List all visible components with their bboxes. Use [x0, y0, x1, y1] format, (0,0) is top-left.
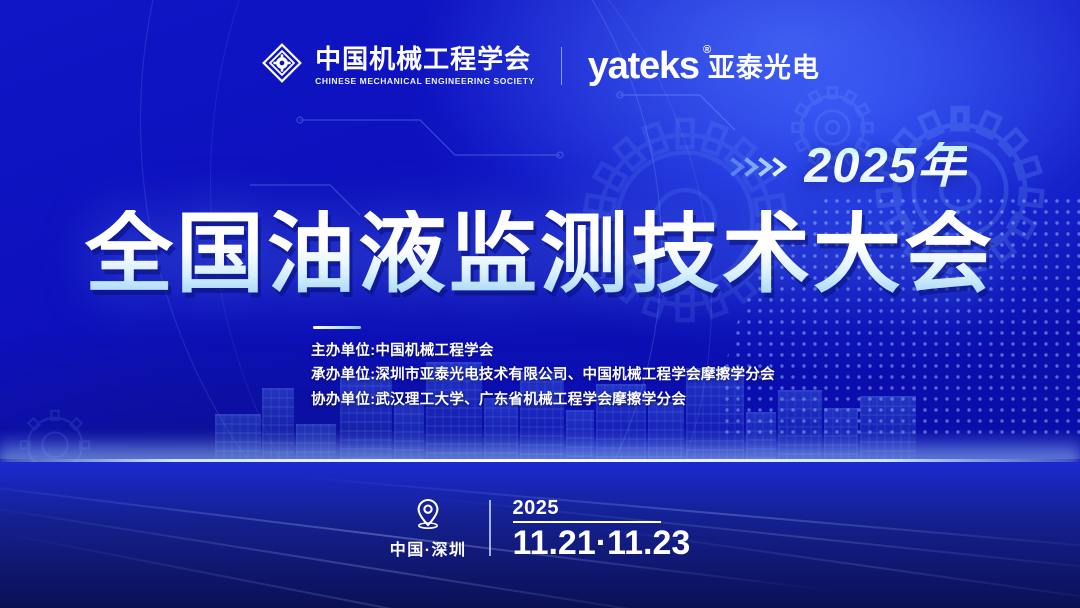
chevron-arrows-icon [730, 153, 792, 181]
yateks-logo: yateks ® 亚泰光电 [588, 47, 820, 85]
cmes-logo: 中国机械工程学会 CHINESE MECHANICAL ENGINEERING … [260, 41, 535, 90]
yateks-name-cn: 亚泰光电 [708, 53, 820, 85]
cmes-logo-text: 中国机械工程学会 CHINESE MECHANICAL ENGINEERING … [315, 46, 535, 86]
location-block: 中国·深圳 [390, 496, 467, 560]
organizer-host: 主办单位:中国机械工程学会 [311, 343, 775, 360]
cmes-name-cn: 中国机械工程学会 [315, 46, 535, 72]
date-underline [513, 521, 661, 523]
title-divider-rule [313, 326, 361, 329]
yateks-wordmark-text: yateks [588, 45, 699, 87]
cmes-name-en: CHINESE MECHANICAL ENGINEERING SOCIETY [315, 77, 535, 86]
footer-divider [489, 500, 491, 556]
year-row: 2025年 [730, 142, 967, 191]
logo-header: 中国机械工程学会 CHINESE MECHANICAL ENGINEERING … [0, 41, 1080, 90]
registered-mark-icon: ® [703, 45, 710, 56]
conference-poster: 中国机械工程学会 CHINESE MECHANICAL ENGINEERING … [0, 0, 1080, 608]
map-pin-icon [411, 496, 445, 530]
date-range: 11.21·11.23 [513, 526, 691, 560]
gear-icon-small-left [10, 400, 100, 490]
horizon-line [0, 459, 1080, 462]
organizer-list: 主办单位:中国机械工程学会 承办单位:深圳市亚泰光电技术有限公司、中国机械工程学… [311, 343, 775, 409]
organizer-undertaker: 承办单位:深圳市亚泰光电技术有限公司、中国机械工程学会摩擦学分会 [311, 367, 775, 384]
diamond-gear-icon [260, 41, 304, 90]
date-block: 2025 11.21·11.23 [513, 497, 691, 560]
yateks-wordmark: yateks ® [588, 47, 699, 85]
page-title: 全国油液监测技术大会 [0, 210, 1080, 298]
logo-divider [561, 47, 562, 85]
year-label: 2025年 [804, 142, 967, 191]
event-footer: 中国·深圳 2025 11.21·11.23 [0, 496, 1080, 560]
horizon-glow [0, 432, 1080, 492]
organizer-co-organizer: 协办单位:武汉理工大学、广东省机械工程学会摩擦学分会 [311, 392, 775, 409]
location-label: 中国·深圳 [390, 536, 467, 560]
date-year: 2025 [513, 497, 560, 519]
